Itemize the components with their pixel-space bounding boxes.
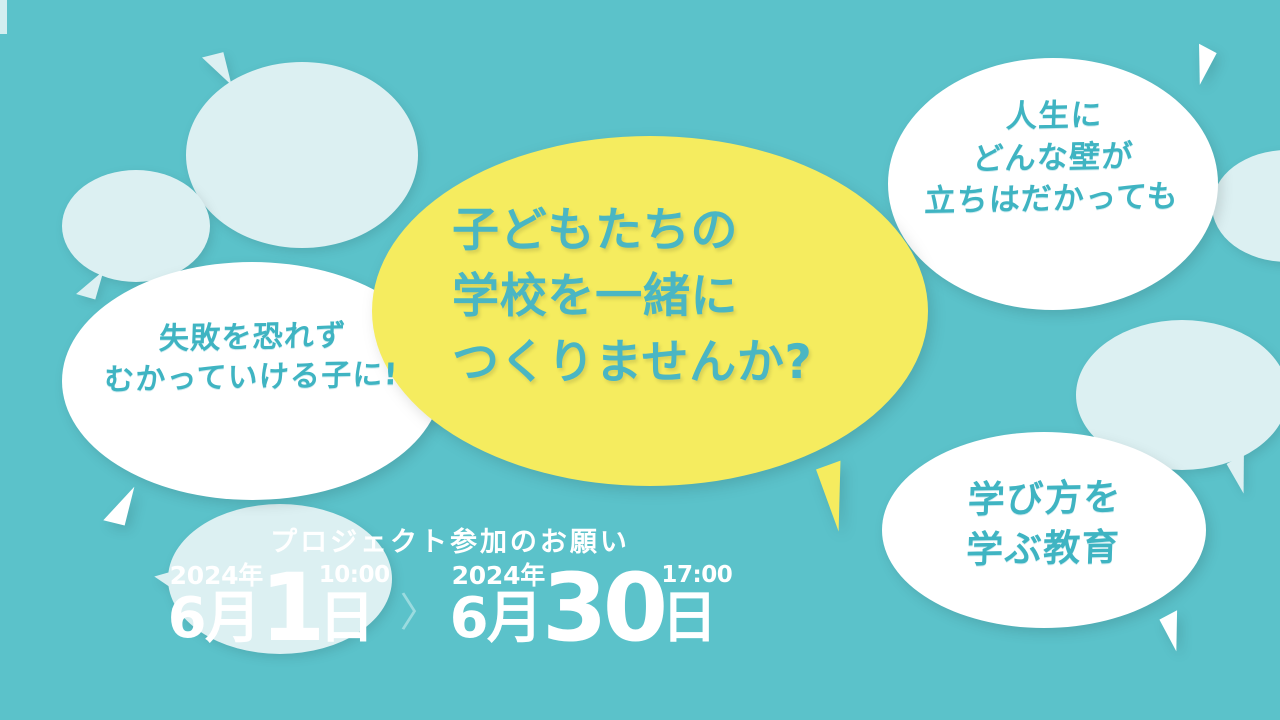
end-day: 30	[542, 570, 663, 647]
quote-text-bottom-right: 学び方を 学ぶ教育	[892, 471, 1196, 576]
event-date-block: プロジェクト参加のお願い 2024年 6月 1 10:00 日 〉 2024年	[0, 520, 900, 647]
corner-artifact	[0, 0, 7, 34]
decorative-bubble-top-left-large	[186, 62, 418, 248]
end-date-stack: 2024年 6月	[450, 563, 545, 647]
end-unit-stack: 17:00 日	[661, 564, 732, 647]
poster-canvas: 人生に どんな壁が 立ちはだかっても 失敗を恐れず むかっていける子に! 学び方…	[0, 0, 1280, 720]
bubble-tail-icon	[1159, 605, 1204, 652]
end-year: 2024年	[450, 563, 545, 588]
bubble-tail-icon	[92, 478, 135, 525]
end-time: 17:00	[661, 564, 732, 587]
project-invitation-label: プロジェクト参加のお願い	[0, 520, 900, 559]
start-year: 2024年	[168, 563, 263, 588]
end-day-unit: 日	[661, 591, 715, 647]
bubble-tail-icon	[1227, 449, 1271, 494]
quote-text-left: 失敗を恐れず むかっていける子に!	[73, 315, 432, 402]
start-day-unit: 日	[319, 591, 373, 647]
start-time: 10:00	[319, 564, 390, 587]
start-date-group: 2024年 6月 1 10:00 日	[168, 563, 390, 647]
start-unit-stack: 10:00 日	[319, 564, 390, 647]
bubble-tail-icon	[66, 262, 103, 299]
decorative-bubble-top-left-small	[62, 170, 210, 282]
start-month: 6月	[168, 591, 260, 647]
bubble-tail-icon	[1173, 39, 1216, 85]
end-date-group: 2024年 6月 30 17:00 日	[450, 563, 733, 647]
start-date-stack: 2024年 6月	[168, 563, 263, 647]
decorative-bubble-top-right-edge	[1212, 150, 1280, 262]
bubble-tail-icon	[188, 52, 231, 94]
quote-text-top-right: 人生に どんな壁が 立ちはだかっても	[898, 93, 1208, 223]
end-month: 6月	[450, 591, 542, 647]
page-headline: 子どもたちの 学校を一緒に つくりませんか?	[452, 198, 882, 395]
start-day: 1	[260, 570, 321, 647]
date-range-row: 2024年 6月 1 10:00 日 〉 2024年 6月 30 17:00	[0, 563, 900, 647]
date-range-separator-icon: 〉	[396, 593, 444, 647]
